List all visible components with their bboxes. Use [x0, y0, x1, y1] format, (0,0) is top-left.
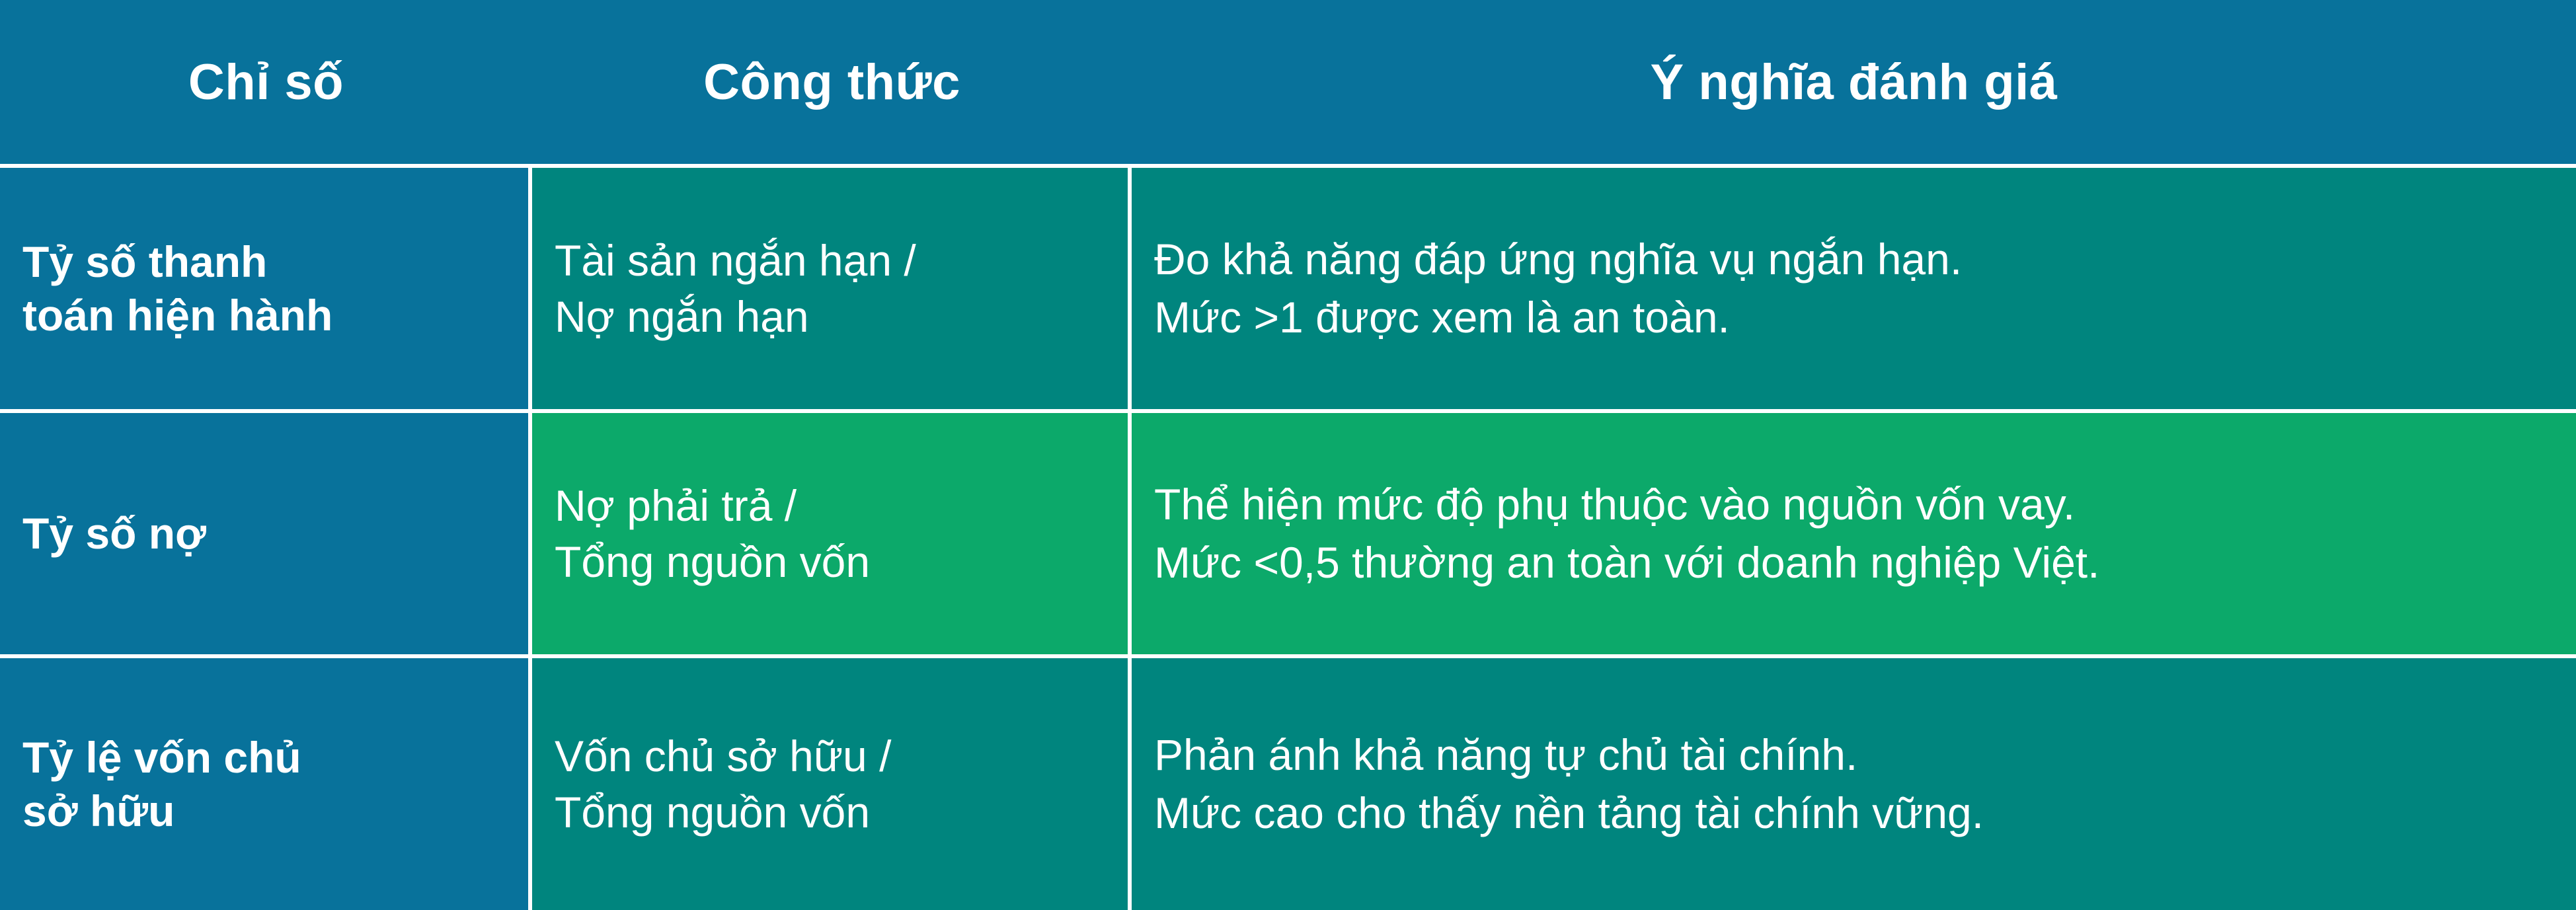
- header-row: Chỉ số Công thức Ý nghĩa đánh giá: [0, 0, 2576, 164]
- formula-line-1: Nợ phải trả /: [555, 478, 1111, 533]
- metric-line-1: Tỷ lệ vốn chủ: [22, 731, 511, 784]
- column-header-meaning: Ý nghĩa đánh giá: [1132, 0, 2576, 164]
- cell-formula: Nợ phải trả / Tổng nguồn vốn: [532, 409, 1132, 654]
- cell-metric: Tỷ số nợ: [0, 409, 532, 654]
- column-header-metric: Chỉ số: [0, 0, 532, 164]
- table-row: Tỷ số thanh toán hiện hành Tài sản ngắn …: [0, 164, 2576, 409]
- formula-line-1: Tài sản ngắn hạn /: [555, 233, 1111, 288]
- cell-metric: Tỷ lệ vốn chủ sở hữu: [0, 654, 532, 910]
- formula-line-2: Tổng nguồn vốn: [555, 784, 1111, 840]
- cell-formula: Tài sản ngắn hạn / Nợ ngắn hạn: [532, 164, 1132, 409]
- metric-line-2: sở hữu: [22, 784, 511, 838]
- metric-line-2: toán hiện hành: [22, 289, 511, 342]
- formula-line-2: Tổng nguồn vốn: [555, 534, 1111, 589]
- cell-meaning: Đo khả năng đáp ứng nghĩa vụ ngắn hạn. M…: [1132, 164, 2576, 409]
- meaning-line-1: Phản ánh khả năng tự chủ tài chính.: [1154, 726, 2559, 784]
- table-body: Tỷ số thanh toán hiện hành Tài sản ngắn …: [0, 164, 2576, 910]
- metric-line-1: Tỷ số nợ: [22, 507, 511, 560]
- formula-line-2: Nợ ngắn hạn: [555, 289, 1111, 344]
- meaning-line-2: Mức <0,5 thường an toàn với doanh nghiệp…: [1154, 534, 2559, 591]
- meaning-line-2: Mức >1 được xem là an toàn.: [1154, 289, 2559, 346]
- column-header-formula: Công thức: [532, 0, 1132, 164]
- meaning-line-1: Đo khả năng đáp ứng nghĩa vụ ngắn hạn.: [1154, 231, 2559, 288]
- meaning-line-1: Thể hiện mức độ phụ thuộc vào nguồn vốn …: [1154, 476, 2559, 533]
- table-row: Tỷ lệ vốn chủ sở hữu Vốn chủ sở hữu / Tổ…: [0, 654, 2576, 910]
- table-row: Tỷ số nợ Nợ phải trả / Tổng nguồn vốn Th…: [0, 409, 2576, 654]
- financial-ratio-table-root: Chỉ số Công thức Ý nghĩa đánh giá Tỷ số …: [0, 0, 2576, 910]
- meaning-line-2: Mức cao cho thấy nền tảng tài chính vững…: [1154, 784, 2559, 842]
- cell-formula: Vốn chủ sở hữu / Tổng nguồn vốn: [532, 654, 1132, 910]
- metric-line-1: Tỷ số thanh: [22, 235, 511, 289]
- financial-ratio-table: Chỉ số Công thức Ý nghĩa đánh giá Tỷ số …: [0, 0, 2576, 910]
- cell-meaning: Phản ánh khả năng tự chủ tài chính. Mức …: [1132, 654, 2576, 910]
- table-header: Chỉ số Công thức Ý nghĩa đánh giá: [0, 0, 2576, 164]
- formula-line-1: Vốn chủ sở hữu /: [555, 728, 1111, 784]
- cell-meaning: Thể hiện mức độ phụ thuộc vào nguồn vốn …: [1132, 409, 2576, 654]
- cell-metric: Tỷ số thanh toán hiện hành: [0, 164, 532, 409]
